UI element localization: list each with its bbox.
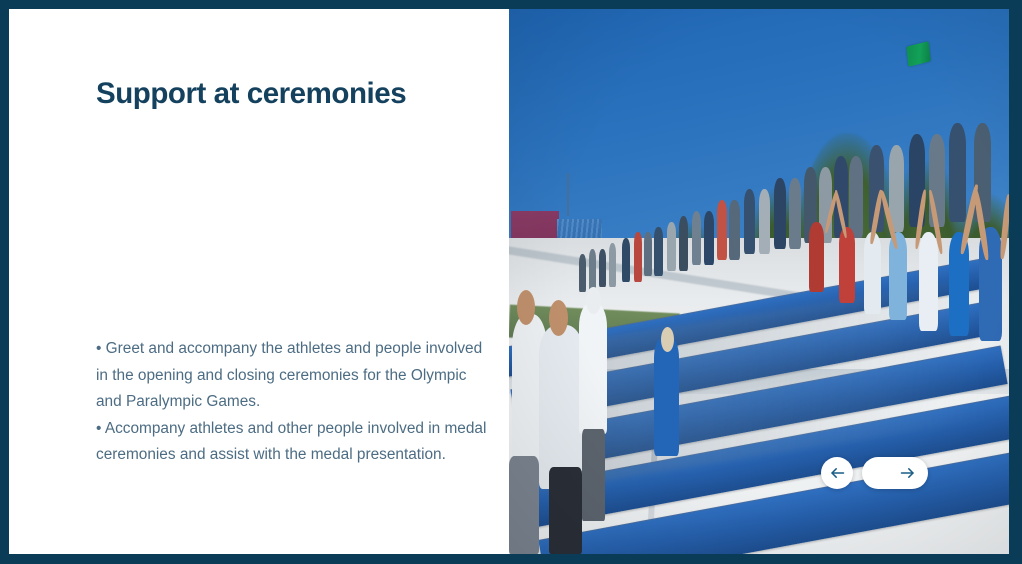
bullet-item-2: • Accompany athletes and other people in… <box>96 416 488 469</box>
spectator <box>609 243 616 287</box>
arrow-left-icon <box>830 467 845 479</box>
previous-slide-button[interactable] <box>821 457 853 489</box>
spectator <box>759 189 770 254</box>
crowd <box>509 9 1009 554</box>
spectator <box>599 249 606 287</box>
arrow-right-icon <box>900 467 915 479</box>
spectator <box>774 178 786 249</box>
spectator <box>589 249 596 293</box>
spectator <box>729 200 740 260</box>
next-slide-button[interactable] <box>862 457 928 489</box>
slide-navigation <box>821 457 928 489</box>
spectator <box>667 222 676 271</box>
spectator <box>654 336 679 456</box>
text-panel: Support at ceremonies • Greet and accomp… <box>9 9 509 554</box>
photo-panel <box>509 9 1009 554</box>
spectator <box>849 156 863 238</box>
foreground-person-legs <box>549 467 582 554</box>
spectator <box>919 232 938 330</box>
raised-arm <box>999 194 1009 260</box>
spectator <box>949 123 966 221</box>
spectator <box>692 211 702 266</box>
spectator <box>789 178 801 249</box>
spectator <box>889 232 907 319</box>
spectator <box>839 227 855 303</box>
foreground-person-head <box>517 290 535 325</box>
slide-frame: Support at ceremonies • Greet and accomp… <box>0 0 1022 564</box>
spectator <box>634 232 642 281</box>
spectator <box>679 216 688 271</box>
foreground-person-legs <box>582 429 605 522</box>
spectator <box>644 232 652 276</box>
spectator <box>622 238 630 282</box>
spectator <box>654 227 663 276</box>
slide-body: Support at ceremonies • Greet and accomp… <box>9 9 1009 554</box>
white-cap <box>586 287 601 314</box>
spectator <box>717 200 727 260</box>
spectator <box>744 189 755 254</box>
page-title: Support at ceremonies <box>96 77 489 112</box>
foreground-person-head <box>549 300 568 336</box>
spectator <box>579 254 586 292</box>
stadium-crowd-photo <box>509 9 1009 554</box>
spectator <box>949 232 969 336</box>
spectator <box>809 222 824 293</box>
foreground-person-legs <box>509 456 539 554</box>
spectator <box>704 211 714 266</box>
bullet-item-1: • Greet and accompany the athletes and p… <box>96 336 488 416</box>
foreground-person <box>579 303 607 434</box>
foreground-person <box>539 325 584 489</box>
body-copy: • Greet and accompany the athletes and p… <box>96 336 488 469</box>
spectator <box>864 232 881 314</box>
